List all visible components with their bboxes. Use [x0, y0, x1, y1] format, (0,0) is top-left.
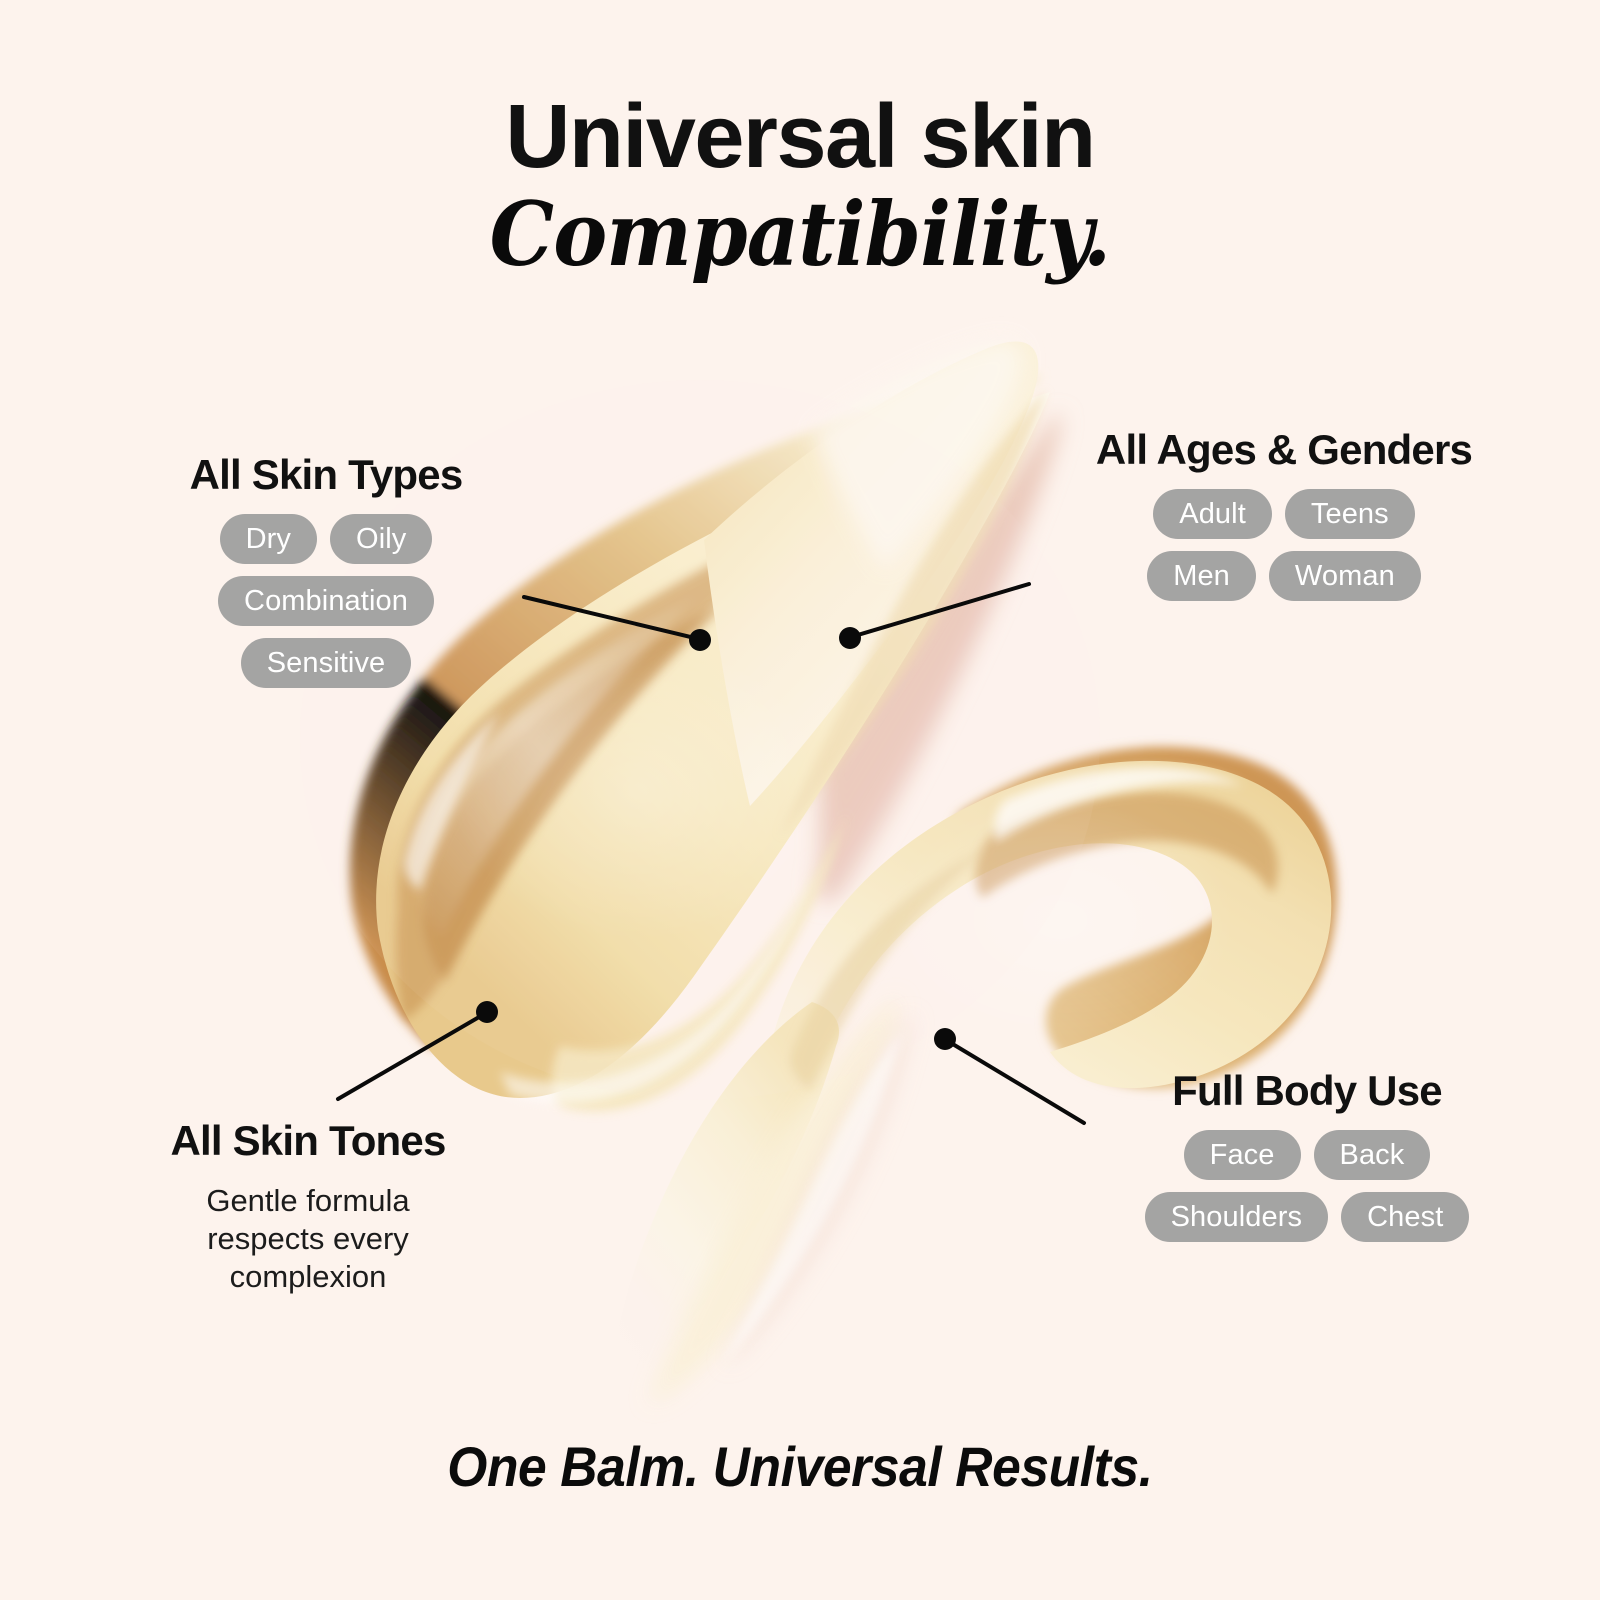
- pill-adult[interactable]: Adult: [1153, 489, 1272, 539]
- pill-oily[interactable]: Oily: [330, 514, 432, 564]
- connector-line-ages: [851, 584, 1029, 637]
- pill-woman[interactable]: Woman: [1269, 551, 1421, 601]
- pill-dry[interactable]: Dry: [220, 514, 317, 564]
- connector-line-skin-tones: [338, 1013, 486, 1099]
- connector-dot-skin-types: [689, 629, 711, 651]
- pill-row: Sensitive: [176, 638, 476, 688]
- connector-dot-ages: [839, 627, 861, 649]
- connector-line-body-use: [946, 1040, 1084, 1123]
- callout-all-skin-tones: All Skin Tones Gentle formula respects e…: [152, 1118, 464, 1296]
- pill-row: Men Woman: [1068, 551, 1500, 601]
- pill-row: Adult Teens: [1068, 489, 1500, 539]
- callout-title-ages-genders: All Ages & Genders: [1068, 427, 1500, 473]
- footer-tagline: One Balm. Universal Results.: [64, 1434, 1536, 1499]
- callout-all-skin-types: All Skin Types Dry Oily Combination Sens…: [176, 452, 476, 700]
- pill-teens[interactable]: Teens: [1285, 489, 1415, 539]
- pill-shoulders[interactable]: Shoulders: [1145, 1192, 1329, 1242]
- pill-back[interactable]: Back: [1314, 1130, 1431, 1180]
- pill-row: Shoulders Chest: [1112, 1192, 1502, 1242]
- pill-row: Dry Oily: [176, 514, 476, 564]
- pill-row: Face Back: [1112, 1130, 1502, 1180]
- headline-line-2: Compatibility.: [64, 184, 1536, 285]
- connector-dot-skin-tones: [476, 1001, 498, 1023]
- connector-dot-body-use: [934, 1028, 956, 1050]
- pill-combination[interactable]: Combination: [218, 576, 434, 626]
- pill-chest[interactable]: Chest: [1341, 1192, 1469, 1242]
- headline-line-1: Universal skin: [0, 92, 1600, 184]
- page-title: Universal skin Compatibility.: [0, 92, 1600, 285]
- callout-subtitle-skin-tones: Gentle formula respects every complexion: [152, 1182, 464, 1295]
- callout-title-skin-types: All Skin Types: [176, 452, 476, 498]
- connector-line-skin-types: [524, 597, 699, 639]
- callout-full-body-use: Full Body Use Face Back Shoulders Chest: [1112, 1068, 1502, 1254]
- callout-title-body-use: Full Body Use: [1112, 1068, 1502, 1114]
- callout-title-skin-tones: All Skin Tones: [152, 1118, 464, 1164]
- pill-row: Combination: [176, 576, 476, 626]
- pill-face[interactable]: Face: [1184, 1130, 1301, 1180]
- pill-group-ages-genders: Adult Teens Men Woman: [1068, 489, 1500, 601]
- infographic-poster: Universal skin Compatibility. All Skin T…: [0, 0, 1600, 1600]
- pill-group-body-use: Face Back Shoulders Chest: [1112, 1130, 1502, 1242]
- pill-group-skin-types: Dry Oily Combination Sensitive: [176, 514, 476, 688]
- callout-all-ages-genders: All Ages & Genders Adult Teens Men Woman: [1068, 427, 1500, 613]
- pill-men[interactable]: Men: [1147, 551, 1256, 601]
- pill-sensitive[interactable]: Sensitive: [241, 638, 412, 688]
